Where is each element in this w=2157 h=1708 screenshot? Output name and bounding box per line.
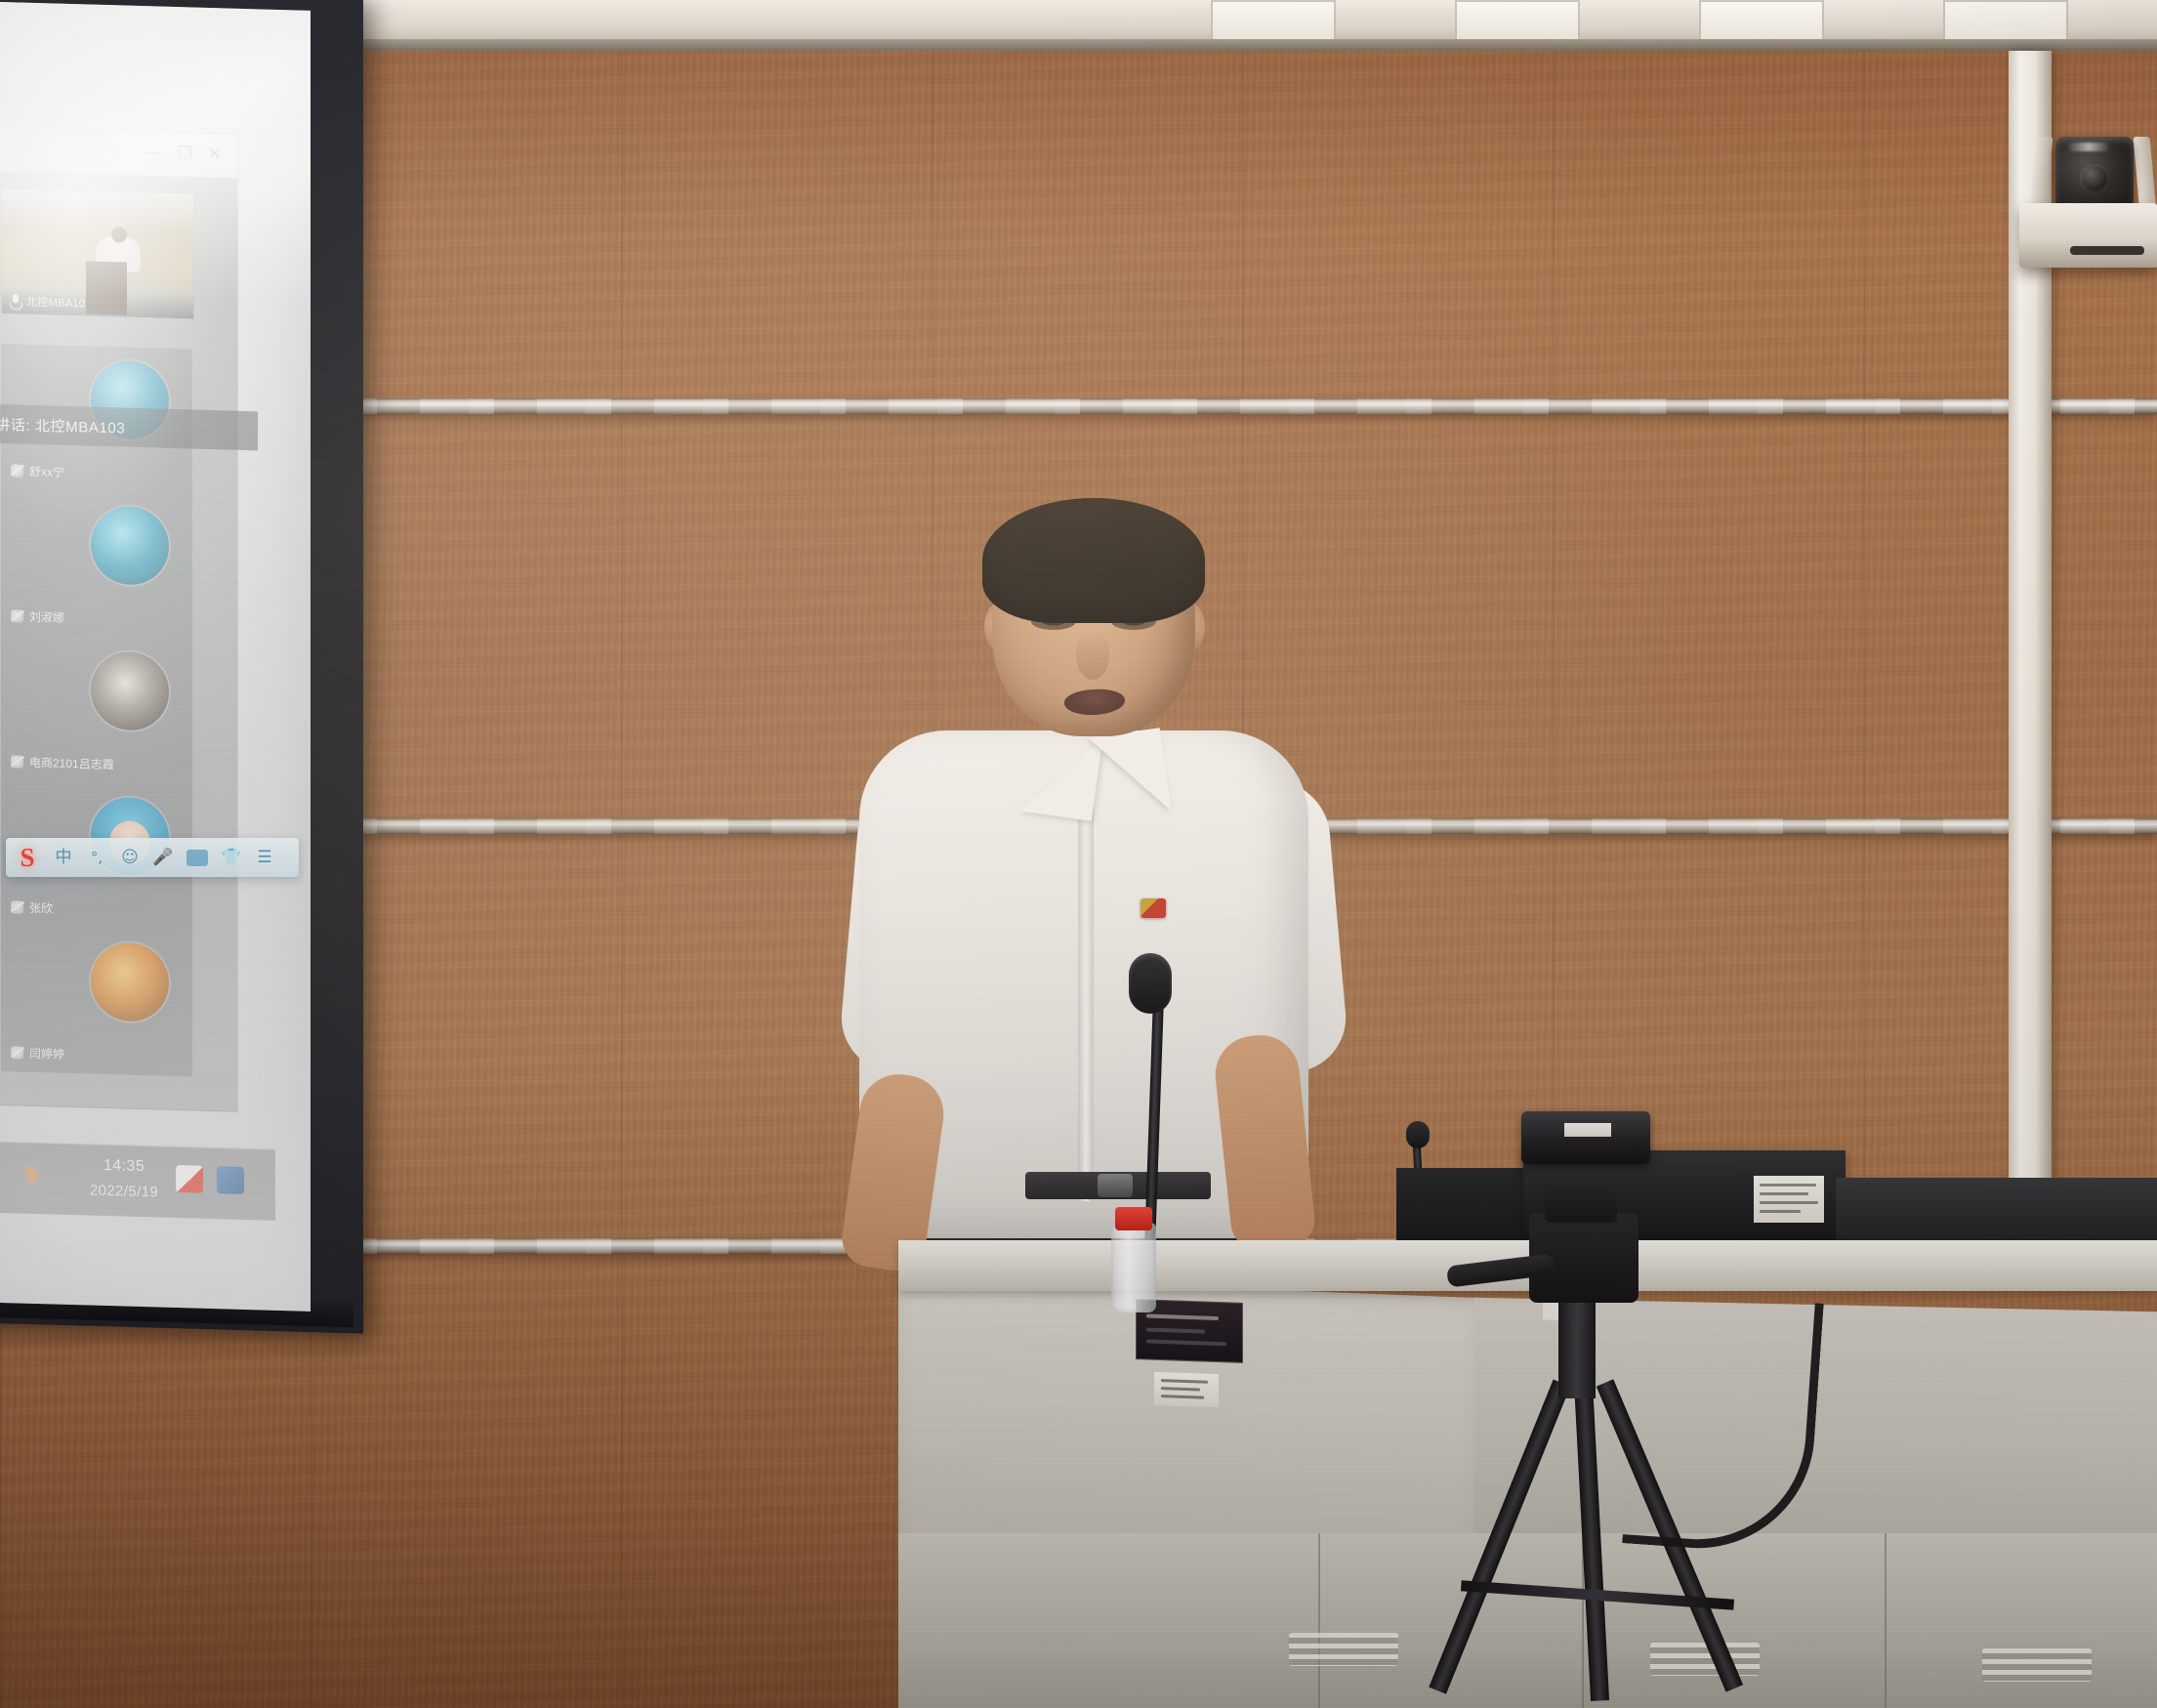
water-bottle-cap xyxy=(1115,1207,1152,1230)
punctuation-toggle-icon[interactable]: °, xyxy=(80,847,113,868)
tripod-camera-mount xyxy=(1545,1160,1617,1223)
cabinet-vent xyxy=(1982,1648,2092,1682)
sogou-ime-toolbar[interactable]: S 中 °, ☺ 🎤 👕 ☰ xyxy=(6,838,299,877)
cabinet-seam xyxy=(1318,1533,1320,1708)
skin-toolbox-icon[interactable]: 👕 xyxy=(215,847,248,868)
camera-tripod xyxy=(1396,1104,1855,1708)
settings-menu-icon[interactable]: ☰ xyxy=(248,847,281,868)
video-camera-body xyxy=(1521,1111,1650,1164)
voice-input-icon[interactable]: 🎤 xyxy=(146,847,180,868)
tripod-leg-left xyxy=(1429,1379,1570,1693)
ime-mode-icon[interactable]: 中 xyxy=(47,847,80,868)
tripod-leg-middle xyxy=(1574,1383,1609,1702)
cabinet-seam xyxy=(1885,1533,1887,1708)
camera-label-sticker xyxy=(1564,1123,1611,1137)
white-asset-sticker xyxy=(1154,1372,1219,1407)
camera-cable xyxy=(1622,1291,1824,1557)
sogou-logo-icon[interactable]: S xyxy=(8,843,47,872)
lecture-hall-scene: — ❐ ✕ 北控MBA103 xyxy=(0,0,2157,1708)
gooseneck-microphone-capsule xyxy=(1129,953,1172,1014)
keyboard-panel-icon[interactable] xyxy=(187,850,208,866)
emoji-toolbox-icon[interactable]: ☺ xyxy=(113,847,146,868)
water-bottle xyxy=(1111,1223,1156,1312)
cabinet-vent xyxy=(1289,1633,1398,1666)
tripod-center-column xyxy=(1558,1291,1596,1398)
